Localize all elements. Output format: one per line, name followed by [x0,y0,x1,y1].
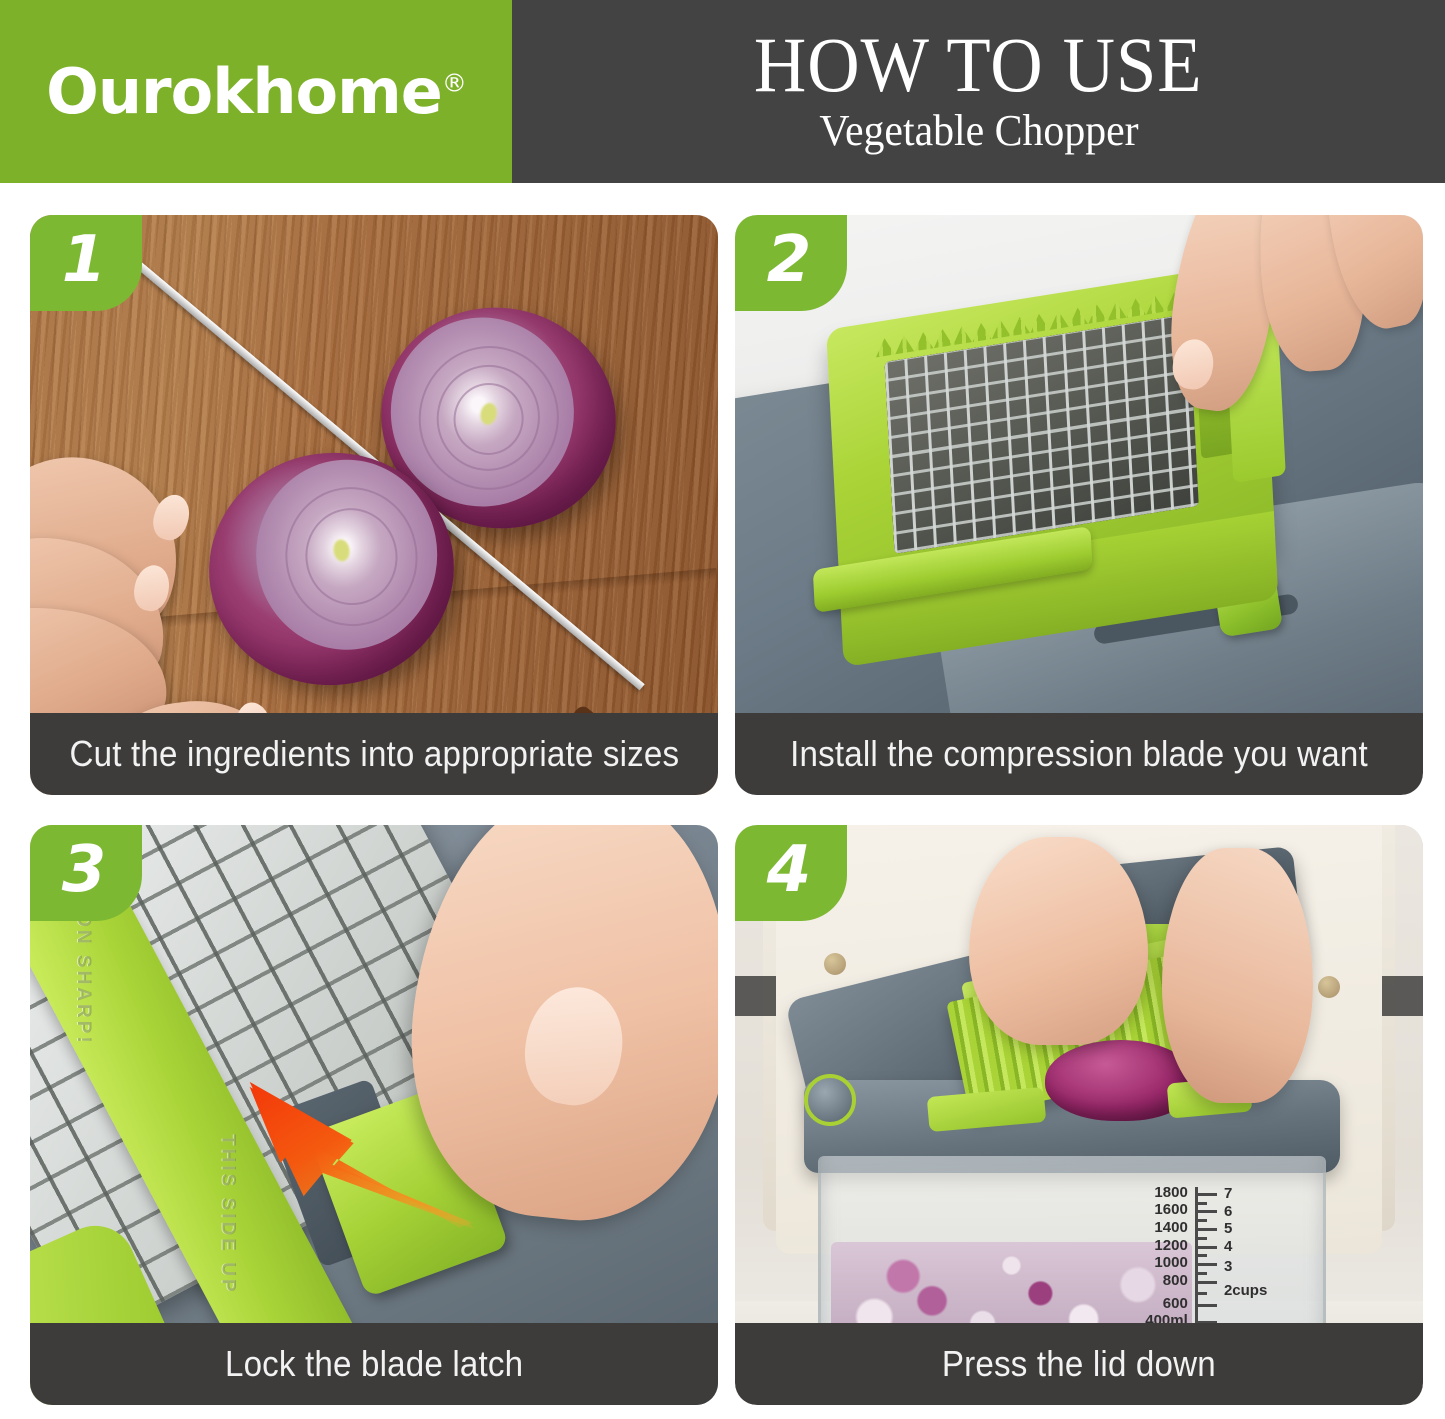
scale-tick [1195,1193,1217,1196]
fingernail [1169,337,1216,392]
step-badge-2: 2 [735,215,847,311]
hinge-pivot [804,1074,856,1126]
step-card-4: 1800 1600 1400 1200 1000 800 600 400ml 7… [735,825,1423,1405]
step-card-3: CAUTION SHARP! THIS SIDE UP [30,825,718,1405]
scale-tick [1195,1281,1217,1284]
scale-tick [1195,1292,1207,1295]
step-caption-bar-4: Press the lid down [735,1323,1423,1405]
step-caption-bar-1: Cut the ingredients into appropriate siz… [30,713,718,795]
scale-ml-label: 800 [1163,1272,1188,1289]
scale-ml-label: 1800 [1154,1184,1187,1201]
step-caption-bar-3: Lock the blade latch [30,1323,718,1405]
scale-ml-label: 1000 [1154,1254,1187,1271]
measurement-scale: 1800 1600 1400 1200 1000 800 600 400ml 7… [1112,1187,1293,1333]
step-number: 2 [767,228,812,292]
scale-cup-label: 5 [1224,1221,1232,1238]
scale-tick [1195,1254,1207,1257]
registered-trademark-icon: ® [442,68,466,97]
scale-ml-label: 1400 [1154,1219,1187,1236]
step-3-photo: CAUTION SHARP! THIS SIDE UP [30,825,718,1405]
header-bar: Ourokhome® HOW TO USE Vegetable Chopper [0,0,1445,183]
step-number: 4 [767,838,812,902]
step-caption-text: Press the lid down [942,1343,1216,1385]
step-4-photo: 1800 1600 1400 1200 1000 800 600 400ml 7… [735,825,1423,1405]
hand-left [969,837,1148,1046]
scale-ml-label: 1200 [1154,1237,1187,1254]
brand-name-text: Ourokhome [46,55,442,128]
step-caption-bar-2: Install the compression blade you want [735,713,1423,795]
page-subtitle: Vegetable Chopper [819,107,1138,155]
step-card-1: 1 Cut the ingredients into appropriate s… [30,215,718,795]
infographic-page: Ourokhome® HOW TO USE Vegetable Chopper [0,0,1445,1419]
scale-cup-label: 4 [1224,1238,1232,1255]
step-badge-4: 4 [735,825,847,921]
scale-tick [1195,1237,1207,1240]
step-number: 1 [62,228,107,292]
page-title: HOW TO USE [754,28,1203,103]
scale-tick [1195,1272,1207,1275]
hand-group [1162,215,1396,447]
scale-tick [1195,1219,1207,1222]
arrow-icon [188,1057,477,1231]
scale-ml-label: 600 [1163,1295,1188,1312]
step-number: 3 [62,838,107,902]
scale-tick [1195,1210,1217,1213]
header-title-group: HOW TO USE Vegetable Chopper [512,0,1445,183]
scale-tick [1195,1246,1217,1249]
step-badge-1: 1 [30,215,142,311]
step-caption-text: Install the compression blade you want [790,733,1368,775]
scale-cup-label: 3 [1224,1259,1232,1276]
brand-name: Ourokhome® [46,61,466,123]
step-badge-3: 3 [30,825,142,921]
scale-ml-label: 1600 [1154,1202,1187,1219]
hand-right [1162,848,1313,1103]
direction-arrow [188,1057,477,1231]
apron-button [824,953,846,975]
step-caption-text: Cut the ingredients into appropriate siz… [69,733,679,775]
step-caption-text: Lock the blade latch [225,1343,523,1385]
scale-tick [1195,1228,1217,1231]
scale-cup-label: 2cups [1224,1282,1267,1299]
step-1-photo [30,215,718,795]
scale-cup-label: 7 [1224,1186,1232,1203]
scale-cup-label: 6 [1224,1203,1232,1220]
scale-tick [1195,1263,1217,1266]
step-2-photo [735,215,1423,795]
scale-tick [1195,1202,1207,1205]
steps-grid: 1 Cut the ingredients into appropriate s… [30,215,1415,1405]
brand-logo-block: Ourokhome® [0,0,512,183]
scale-tick [1195,1304,1217,1307]
step-card-2: 2 Install the compression blade you want [735,215,1423,795]
